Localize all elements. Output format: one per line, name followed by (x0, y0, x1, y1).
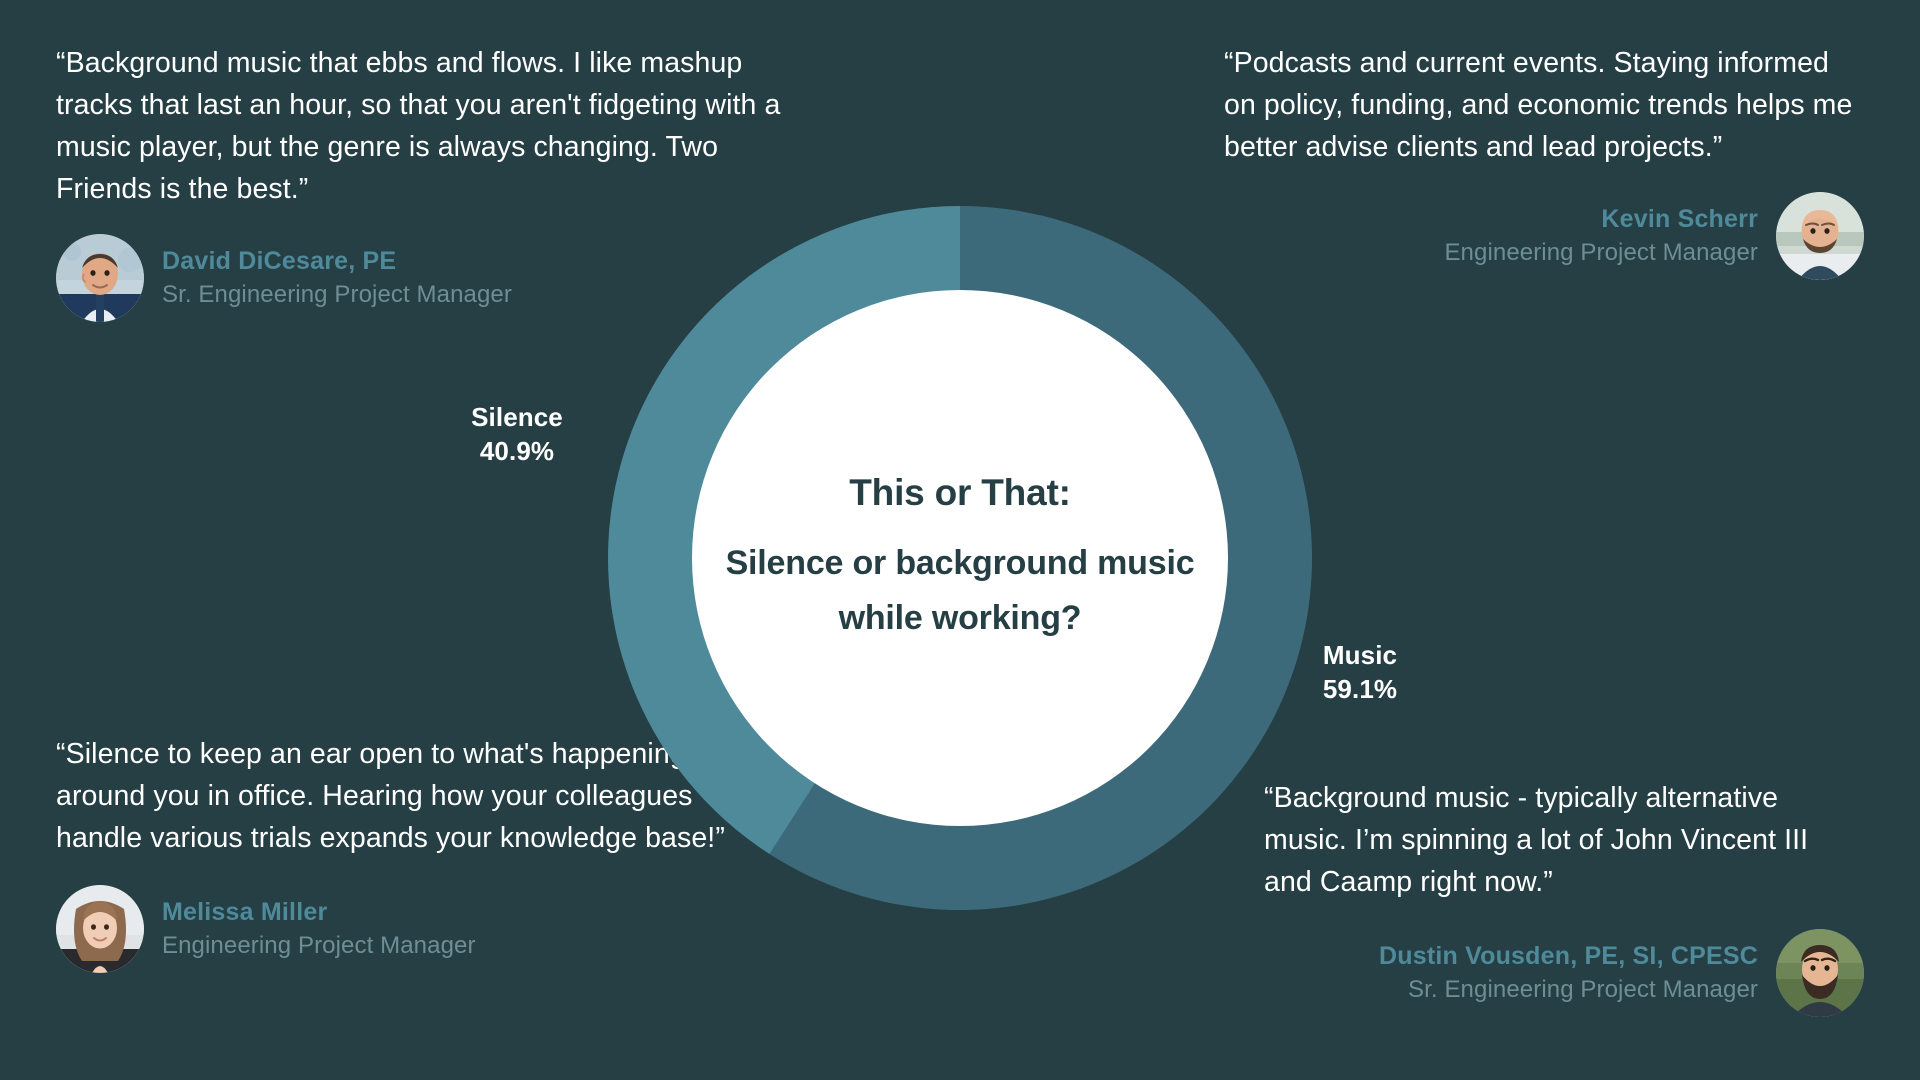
infographic-canvas: “Background music that ebbs and flows. I… (0, 0, 1920, 1080)
quote-text: “Background music - typically alternativ… (1264, 777, 1864, 903)
person-role: Engineering Project Manager (162, 929, 476, 963)
quote-block-bottom-right: “Background music - typically alternativ… (1264, 777, 1864, 1017)
quote-attribution: Kevin Scherr Engineering Project Manager (1224, 192, 1864, 280)
attribution-names: Melissa Miller Engineering Project Manag… (162, 895, 476, 963)
slice-label-text: Silence (442, 400, 592, 434)
slice-percent-text: 40.9% (442, 434, 592, 468)
person-name: Kevin Scherr (1601, 202, 1758, 236)
person-name: David DiCesare, PE (162, 244, 512, 278)
attribution-names: Kevin Scherr Engineering Project Manager (1444, 202, 1758, 270)
quote-block-top-right: “Podcasts and current events. Staying in… (1224, 42, 1864, 280)
person-role: Sr. Engineering Project Manager (162, 278, 512, 312)
slice-label-silence: Silence 40.9% (442, 400, 592, 468)
slice-percent-text: 59.1% (1285, 672, 1435, 706)
person-role: Engineering Project Manager (1444, 236, 1758, 270)
attribution-names: Dustin Vousden, PE, SI, CPESC Sr. Engine… (1379, 939, 1758, 1007)
person-name: Dustin Vousden, PE, SI, CPESC (1379, 939, 1758, 973)
donut-chart: This or That: Silence or background musi… (600, 198, 1320, 918)
person-role: Sr. Engineering Project Manager (1408, 973, 1758, 1007)
slice-label-music: Music 59.1% (1285, 638, 1435, 706)
donut-hole (692, 290, 1228, 826)
avatar-david-dicesare (56, 234, 144, 322)
avatar-kevin-scherr (1776, 192, 1864, 280)
avatar-melissa-miller (56, 885, 144, 973)
person-name: Melissa Miller (162, 895, 476, 929)
attribution-names: David DiCesare, PE Sr. Engineering Proje… (162, 244, 512, 312)
slice-label-text: Music (1285, 638, 1435, 672)
avatar-dustin-vousden (1776, 929, 1864, 1017)
quote-text: “Podcasts and current events. Staying in… (1224, 42, 1864, 168)
quote-attribution: Dustin Vousden, PE, SI, CPESC Sr. Engine… (1264, 929, 1864, 1017)
quote-text: “Background music that ebbs and flows. I… (56, 42, 816, 210)
